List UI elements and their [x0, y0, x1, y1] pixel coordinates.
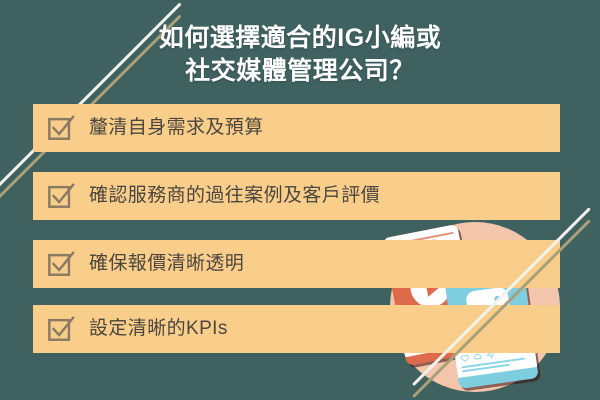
- checkbox-checked-icon: [47, 182, 75, 210]
- checkbox-checked-icon: [47, 114, 75, 142]
- list-item-label: 設定清晰的KPIs: [89, 317, 228, 341]
- page-title-line-2: 社交媒體管理公司？: [0, 55, 600, 88]
- page-title-line-1: 如何選擇適合的IG小編或: [0, 22, 600, 55]
- list-item-label: 確保報價清晰透明: [89, 252, 244, 276]
- list-item: 釐清自身需求及預算: [33, 104, 560, 152]
- heart-icon: [460, 353, 470, 363]
- list-item-label: 釐清自身需求及預算: [89, 116, 264, 140]
- checkbox-checked-icon: [47, 315, 75, 343]
- list-item-label: 確認服務商的過往案例及客戶評價: [89, 184, 380, 208]
- checkbox-checked-icon: [47, 250, 75, 278]
- list-item: 確認服務商的過往案例及客戶評價: [33, 172, 560, 220]
- list-item: 設定清晰的KPIs: [33, 305, 560, 353]
- checklist: 釐清自身需求及預算 確認服務商的過往案例及客戶評價 確保報價清晰透明: [33, 104, 560, 353]
- comment-icon: [473, 351, 483, 361]
- infographic-poster: 如何選擇適合的IG小編或 社交媒體管理公司？: [0, 0, 600, 400]
- list-item: 確保報價清晰透明: [33, 240, 560, 288]
- page-title: 如何選擇適合的IG小編或 社交媒體管理公司？: [0, 22, 600, 88]
